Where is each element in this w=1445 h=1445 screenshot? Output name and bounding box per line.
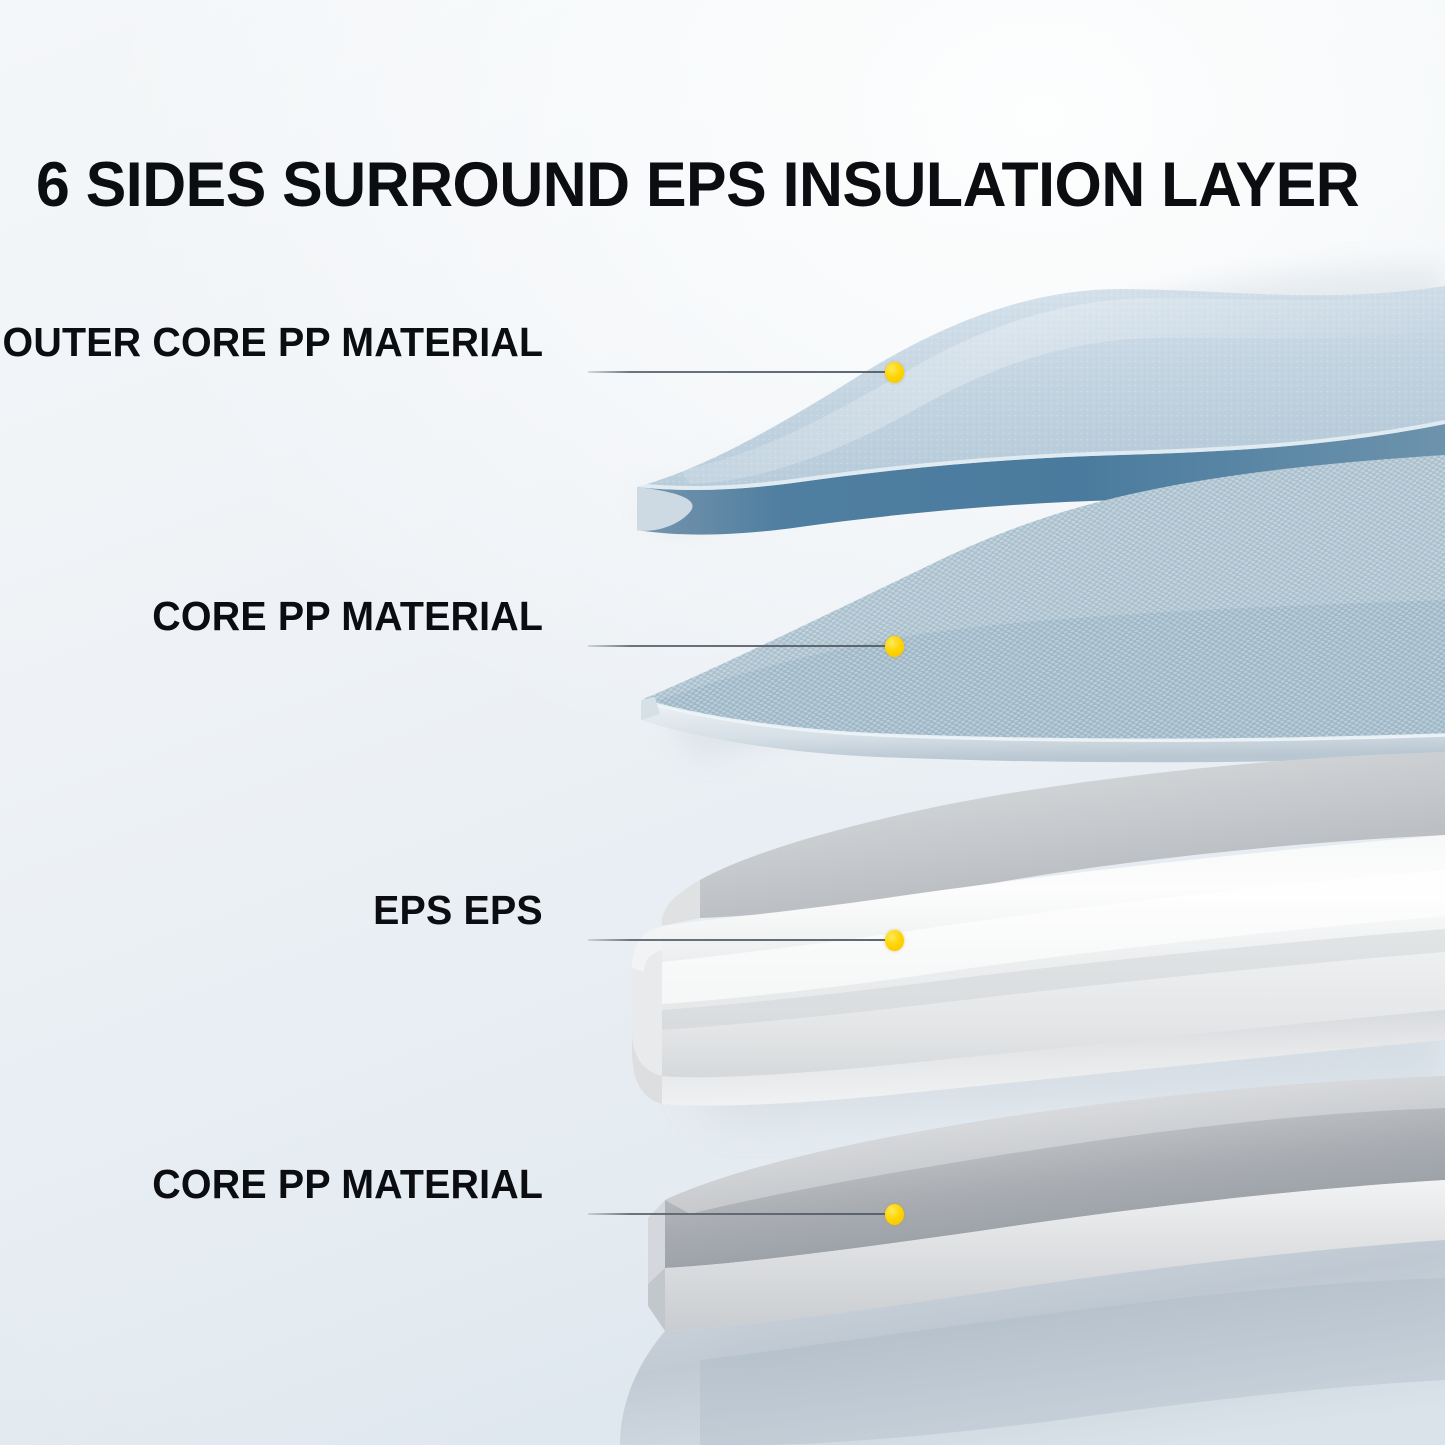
callout-label-core-pp-material-upper: CORE PP MATERIAL xyxy=(152,593,543,640)
layer-outer-core-pp xyxy=(637,266,1445,535)
callout-label-core-pp-material-lower: CORE PP MATERIAL xyxy=(152,1161,543,1208)
callout-dot-eps-eps[interactable] xyxy=(885,930,904,951)
page-title: 6 SIDES SURROUND EPS INSULATION LAYER xyxy=(36,152,1368,218)
callout-dot-core-pp-material-lower[interactable] xyxy=(885,1204,904,1225)
callout-leader-line xyxy=(588,939,894,941)
callout-label-outer-core-pp-material: OUTER CORE PP MATERIAL xyxy=(2,319,543,366)
callout-label-eps-eps: EPS EPS xyxy=(373,887,543,934)
callout-dot-outer-core-pp-material[interactable] xyxy=(885,362,904,383)
callout-leader-line xyxy=(588,1213,894,1215)
layer-eps-foam xyxy=(632,752,1445,1120)
insulation-layer-infographic: 6 SIDES SURROUND EPS INSULATION LAYER OU… xyxy=(0,0,1445,1445)
callout-leader-line xyxy=(588,371,894,373)
layer-core-pp-woven xyxy=(641,455,1445,762)
layer-bottom-core-pp xyxy=(620,1076,1445,1445)
callout-dot-core-pp-material-upper[interactable] xyxy=(885,636,904,657)
callout-leader-line xyxy=(588,645,894,647)
